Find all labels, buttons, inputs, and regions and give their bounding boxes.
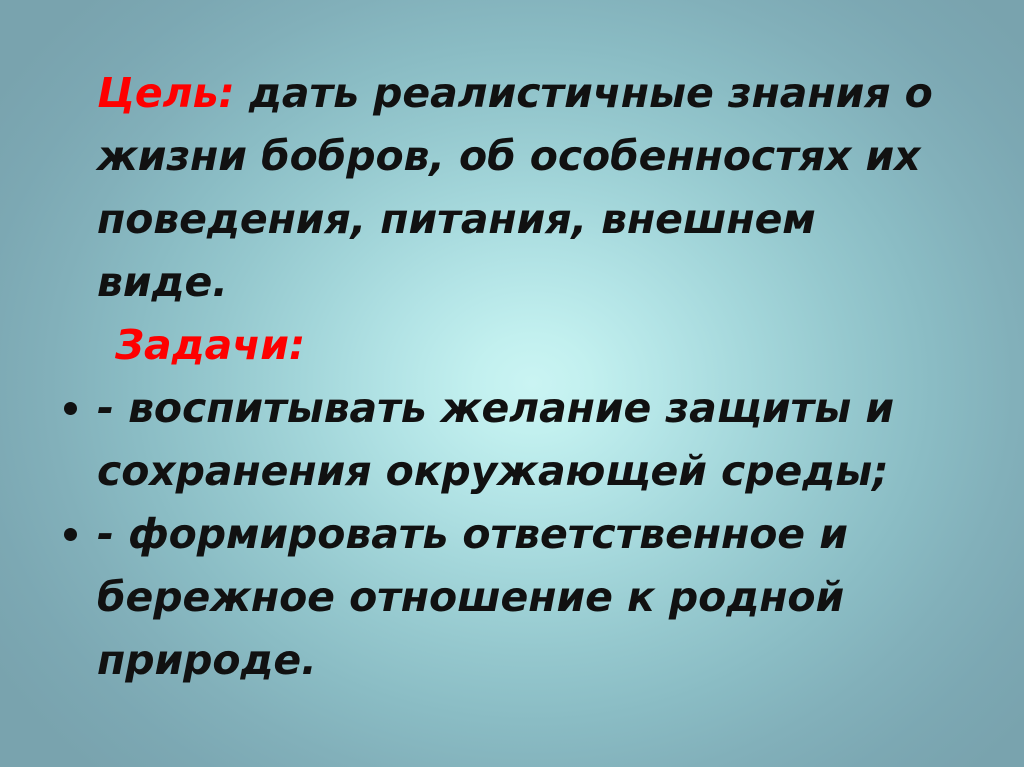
bullet-dot-icon bbox=[64, 402, 77, 415]
list-item-text: - формировать ответственное и бережное о… bbox=[97, 510, 848, 684]
list-item: - формировать ответственное и бережное о… bbox=[52, 503, 952, 692]
tasks-heading: Задачи: bbox=[52, 314, 952, 377]
tasks-list: - воспитывать желание защиты и сохранени… bbox=[52, 377, 952, 692]
goal-paragraph: Цель: дать реалистичные знания о жизни б… bbox=[52, 62, 952, 314]
goal-label: Цель: bbox=[97, 69, 235, 117]
slide-canvas: Цель: дать реалистичные знания о жизни б… bbox=[0, 0, 1024, 767]
slide-body: Цель: дать реалистичные знания о жизни б… bbox=[52, 62, 952, 692]
list-item: - воспитывать желание защиты и сохранени… bbox=[52, 377, 952, 503]
list-item-text: - воспитывать желание защиты и сохранени… bbox=[97, 384, 894, 495]
bullet-dot-icon bbox=[64, 528, 77, 541]
